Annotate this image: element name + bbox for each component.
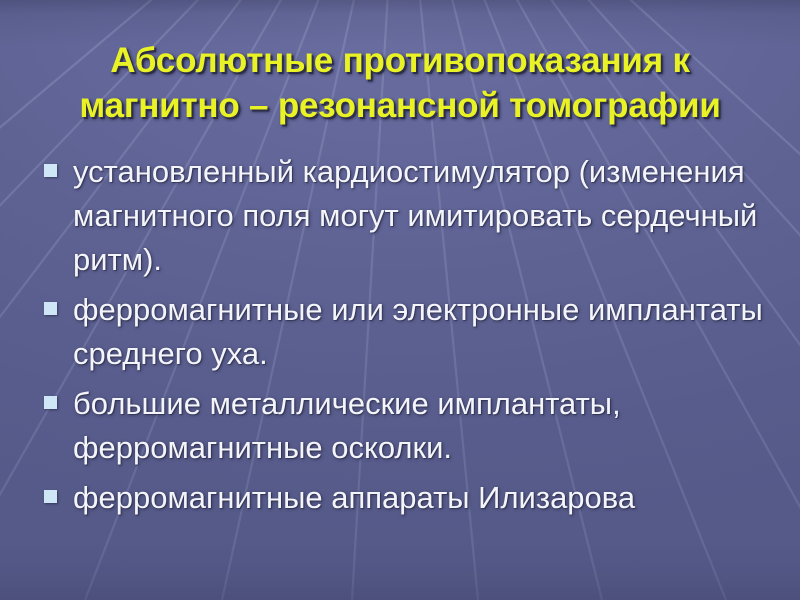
- list-item: большие металлические имплантаты, ферром…: [44, 382, 770, 470]
- square-bullet-icon: [44, 490, 57, 503]
- bullet-item-label: ферромагнитные аппараты Илизарова: [73, 476, 770, 520]
- slide-content: Абсолютные противопоказания к магнитно –…: [0, 0, 800, 600]
- list-item: ферромагнитные или электронные имплантат…: [44, 288, 770, 376]
- bullet-item-label: большие металлические имплантаты, ферром…: [73, 382, 770, 470]
- slide-title: Абсолютные противопоказания к магнитно –…: [30, 38, 770, 128]
- bullet-item-label: ферромагнитные или электронные имплантат…: [73, 288, 770, 376]
- bullet-list: установленный кардиостимулятор (изменени…: [44, 150, 770, 526]
- list-item: ферромагнитные аппараты Илизарова: [44, 476, 770, 520]
- square-bullet-icon: [44, 164, 57, 177]
- list-item: установленный кардиостимулятор (изменени…: [44, 150, 770, 282]
- bullet-item-label: установленный кардиостимулятор (изменени…: [73, 150, 770, 282]
- square-bullet-icon: [44, 396, 57, 409]
- presentation-slide: Абсолютные противопоказания к магнитно –…: [0, 0, 800, 600]
- square-bullet-icon: [44, 302, 57, 315]
